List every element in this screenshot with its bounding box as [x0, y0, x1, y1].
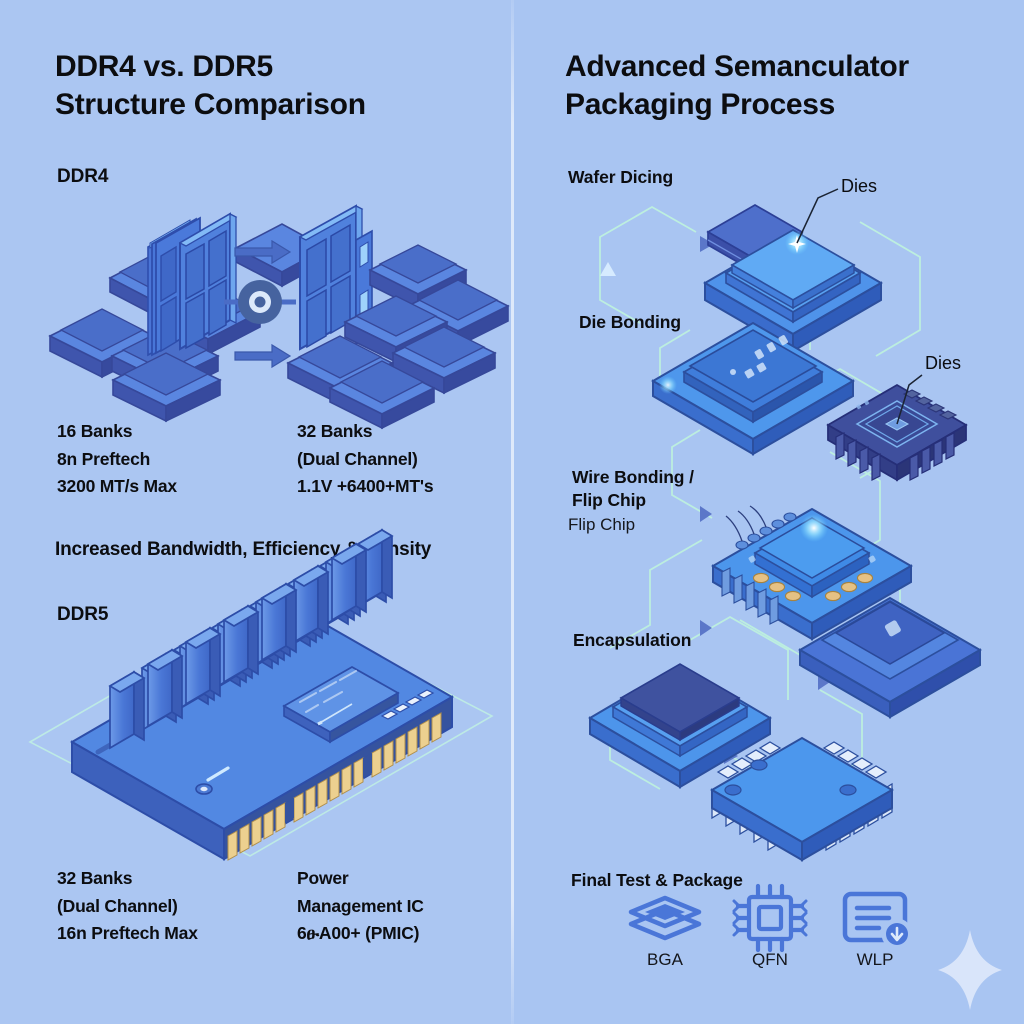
ddr4-module-left — [156, 218, 200, 353]
ddr5-heading: DDR5 — [57, 604, 108, 626]
leaded-package-dark — [828, 385, 966, 480]
chip-pins-icon — [734, 886, 806, 950]
ddr4-heading: DDR4 — [57, 166, 108, 188]
wafer-card-icon — [845, 894, 910, 947]
wafer-slab — [708, 205, 802, 272]
package-label-bga: BGA — [625, 950, 705, 970]
ddr4-right-group — [288, 206, 508, 428]
die-bonding-substrate — [653, 323, 853, 454]
encapsulated-package-alt — [800, 598, 980, 717]
step-wire-bonding-flip-chip: Wire Bonding / Flip Chip — [572, 466, 694, 512]
hub-node-icon — [224, 280, 296, 324]
chip-block — [155, 284, 260, 354]
chip-block — [158, 302, 262, 354]
ddr4-pcb-panel-left-face — [111, 218, 196, 355]
chip-block — [152, 322, 256, 374]
callout-dies-wafer: Dies — [841, 176, 877, 197]
chip-block — [50, 309, 154, 377]
right-panel-title: Advanced Semanculator Packaging Process — [565, 48, 909, 125]
arrow-icon — [235, 241, 290, 263]
step-wafer-dicing: Wafer Dicing — [568, 166, 673, 189]
ddr4-left-group — [50, 214, 326, 421]
chip-block — [118, 214, 206, 262]
chip-block — [152, 258, 256, 310]
chip-block — [370, 245, 466, 309]
chip-block — [110, 251, 210, 318]
ddr5-specs-left: 32 Banks (Dual Channel) 16n Preftech Max — [57, 865, 198, 948]
callout-leader-line — [797, 189, 838, 243]
final-qfp-package — [712, 738, 892, 860]
step-encapsulation: Encapsulation — [573, 629, 691, 652]
infographic-canvas: DDR4 vs. DDR5 Structure Comparison DDR4 — [0, 0, 1024, 1024]
chip-block — [113, 353, 220, 421]
ddr5-heatsink-fins — [110, 530, 392, 748]
encapsulated-package — [590, 664, 770, 787]
arrow-icon — [235, 345, 290, 367]
ddr4-specs-left: 16 Banks 8n Preftech 3200 MT/s Max — [57, 418, 177, 501]
improvement-banner: Increased Bandwidth, Efficiency & Densit… — [55, 539, 431, 561]
ddr4-memory-grid-left — [180, 214, 236, 349]
flip-chip-package — [713, 506, 911, 639]
chip-block — [345, 296, 447, 362]
package-label-qfn: QFN — [730, 950, 810, 970]
callout-dies-bonded: Dies — [925, 353, 961, 374]
chip-block — [112, 329, 218, 397]
ddr5-smd-components — [382, 690, 433, 719]
chip-block — [126, 222, 218, 272]
ddr4-pcb-panel-left — [148, 220, 190, 355]
chip-block — [393, 327, 495, 393]
callout-leader-line — [897, 375, 922, 424]
pmic-chip — [284, 667, 398, 742]
ddr4-specs-right: 32 Banks (Dual Channel) 1.1V +6400+MT's — [297, 418, 433, 501]
step-flip-chip-sublabel: Flip Chip — [568, 515, 635, 535]
step-final-test-package: Final Test & Package — [571, 869, 743, 892]
ddr4-pcb-panel-right — [356, 231, 372, 344]
stacked-layers-icon — [631, 898, 699, 938]
panel-divider — [511, 0, 514, 1024]
chip-block — [408, 280, 508, 346]
ddr5-specs-right: Power Management IC 6ፁA00+ (PMIC) — [297, 865, 424, 948]
ddr5-contact-pins — [228, 713, 441, 860]
wafer-die-stack — [705, 230, 881, 351]
ddr4-memory-grid-right — [300, 206, 362, 349]
chip-block — [156, 336, 260, 388]
left-panel-title: DDR4 vs. DDR5 Structure Comparison — [55, 48, 366, 125]
package-label-wlp: WLP — [835, 950, 915, 970]
step-die-bonding: Die Bonding — [579, 311, 681, 334]
chip-block — [236, 224, 326, 286]
ddr5-pcb-base — [72, 610, 452, 859]
chip-block — [288, 336, 392, 404]
